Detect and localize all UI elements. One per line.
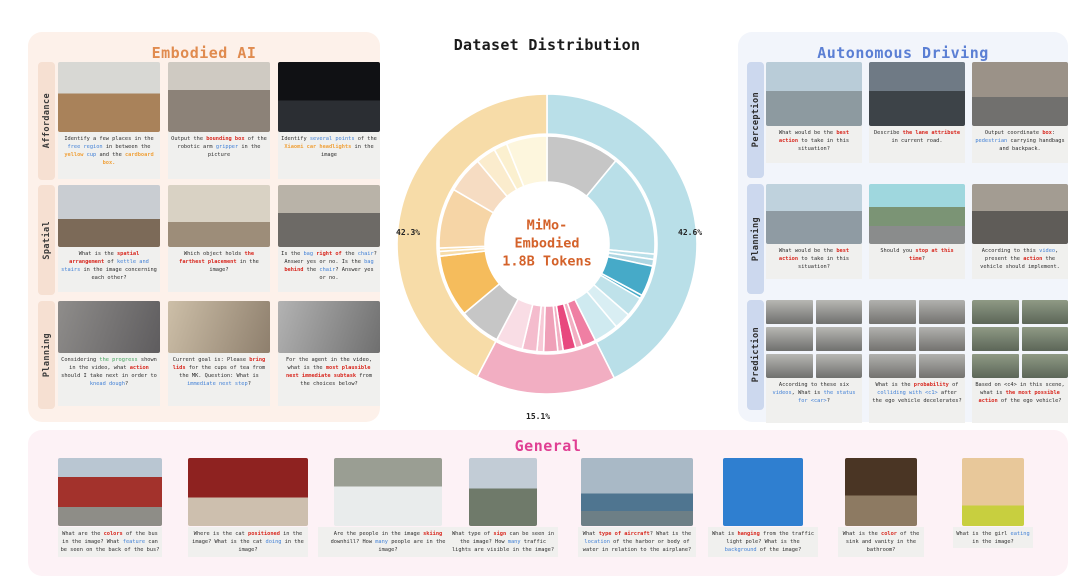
driving-perception-card-1-caption: What would be the best action to take in… xyxy=(766,126,862,163)
driving-planning-card-2-caption-run-0: Should you xyxy=(880,248,915,254)
embodied-affordance-card-3-caption-run-2: of the xyxy=(355,136,377,142)
embodied-spatial-card-3-caption-run-7: bag xyxy=(364,259,374,265)
frame-cell xyxy=(816,354,863,378)
thumbnail-wrap xyxy=(953,458,1033,526)
embodied-affordance-card-3-caption: Identify several points of the Xiaomi ca… xyxy=(278,132,380,179)
donut-center-hole xyxy=(485,182,609,306)
frame-cell xyxy=(919,327,966,351)
general-card-4[interactable]: What type of sign can be seen in the ima… xyxy=(448,458,558,557)
embodied-affordance-card-1-caption-run-2: in between the xyxy=(103,144,151,150)
driving-prediction-card-2-caption-run-2: of xyxy=(949,382,959,388)
general-panel: General What are the colors of the bus i… xyxy=(28,430,1068,576)
general-card-2[interactable]: Where is the cat positioned in the image… xyxy=(188,458,308,557)
general-card-1-caption: What are the colors of the bus in the im… xyxy=(58,527,162,557)
embodied-spatial-card-3-caption-run-1: bag xyxy=(303,251,313,257)
driving-perception-card-1-caption-run-0: What would be the xyxy=(779,130,836,136)
row-label-text: Planning xyxy=(751,217,761,261)
driving-perception-card-2-caption-run-0: Describe xyxy=(874,130,903,136)
driving-perception-card-3-caption-run-2: : xyxy=(1052,130,1055,136)
embodied-planning-card-2-caption: Current goal is: Please bring lids for t… xyxy=(168,353,270,406)
general-card-6[interactable]: What is hanging from the traffic light p… xyxy=(708,458,818,557)
row-label-text: Perception xyxy=(751,92,761,147)
frame-cell xyxy=(919,354,966,378)
frame-cell xyxy=(766,300,813,324)
pct-label-driving: 42.6% xyxy=(678,228,702,237)
driving-planning-card-3-caption-run-0: According to this xyxy=(982,248,1039,254)
frame-cell xyxy=(766,327,813,351)
embodied-spatial-card-3-caption-run-9: behind xyxy=(284,267,303,273)
six-frame-grid-1-thumbnail[interactable] xyxy=(766,300,862,378)
frame-cell xyxy=(972,300,1019,324)
driving-planning-card-2-caption-run-1: stop at this time xyxy=(909,248,954,262)
row-label-text: Affordance xyxy=(42,93,52,148)
driving-prediction-card-2-caption-run-1: probability xyxy=(914,382,949,388)
general-card-3-caption-run-0: Are the people in the image xyxy=(334,531,423,537)
embodied-spatial-card-1[interactable]: What is the spatial arrangement of kettl… xyxy=(58,185,160,292)
general-card-4-caption-run-3: many xyxy=(508,539,521,545)
driving-perception-card-3-caption-run-3: pedestrian xyxy=(975,138,1007,144)
general-card-6-caption-run-0: What is xyxy=(712,531,738,537)
general-card-5-caption-run-3: location xyxy=(584,539,610,545)
general-card-4-caption-run-1: sign xyxy=(493,531,506,537)
bathroom-vanity-thumbnail[interactable] xyxy=(845,458,917,526)
driving-prediction-card-1-caption-run-1: videos xyxy=(773,390,792,396)
driving-planning-card-3-caption-run-3: action xyxy=(1023,256,1042,262)
general-card-2-caption-run-0: Where is the cat xyxy=(194,531,248,537)
embodied-affordance-card-1[interactable]: Identify a few places in the free region… xyxy=(58,62,160,179)
embodied-ai-panel: Embodied AI AffordanceIdentify a few pla… xyxy=(28,32,380,422)
driving-planning-card-3-caption: According to this video, present the act… xyxy=(972,244,1068,279)
general-card-5-caption-run-0: What xyxy=(583,531,599,537)
thumbnail-wrap xyxy=(838,458,924,526)
general-card-2-caption-run-1: positioned xyxy=(248,531,280,537)
embodied-affordance-card-3[interactable]: Identify several points of the Xiaomi ca… xyxy=(278,62,380,179)
driving-perception-card-2-caption-run-1: the lane attribute xyxy=(903,130,960,136)
general-card-1-caption-run-1: colors xyxy=(104,531,123,537)
embodied-planning-card-1-caption: Considering the progress shown in the vi… xyxy=(58,353,160,406)
embodied-planning-card-2-caption-run-0: Current goal is: Please xyxy=(173,357,250,363)
embodied-spatial-card-3-caption-run-0: Is the xyxy=(281,251,303,257)
general-card-7[interactable]: What is the color of the sink and vanity… xyxy=(838,458,924,557)
embodied-planning-card-2-caption-run-3: immediate next step xyxy=(187,381,248,387)
driving-perception-card-2[interactable]: Describe the lane attribute in current r… xyxy=(869,62,965,163)
driving-perception-card-3-caption-run-4: carrying handbags and backpack. xyxy=(999,138,1064,152)
driving-planning-card-2[interactable]: Should you stop at this time? xyxy=(869,184,965,279)
driving-planning-card-1[interactable]: What would be the best action to take in… xyxy=(766,184,862,279)
embodied-affordance-card-2-caption-run-3: gripper xyxy=(216,144,238,150)
video-frames-kitchen-thumbnail[interactable] xyxy=(168,301,270,353)
robot-gripper-stove-thumbnail[interactable] xyxy=(168,62,270,132)
embodied-affordance-card-2[interactable]: Output the bounding box of the robotic a… xyxy=(168,62,270,179)
embodied-spatial-card-1-caption-run-4: in the image concerning each other? xyxy=(80,267,157,281)
embodied-spatial-card-3-caption: Is the bag right of the chair? Answer ye… xyxy=(278,247,380,292)
general-card-5[interactable]: What type of aircraft? What is the locat… xyxy=(578,458,696,557)
embodied-spatial-card-3-caption-run-10: the xyxy=(303,267,319,273)
embodied-planning-card-3-caption: For the agent in the video, what is the … xyxy=(278,353,380,406)
driving-perception-card-3[interactable]: Output coordinate box: pedestrian carryi… xyxy=(972,62,1068,163)
frame-cell xyxy=(869,300,916,324)
general-card-8-caption-run-2: in the image? xyxy=(972,539,1013,545)
embodied-affordance-card-2-caption: Output the bounding box of the robotic a… xyxy=(168,132,270,179)
thumbnail-wrap xyxy=(708,458,818,526)
kitchen-stairs-room-thumbnail[interactable] xyxy=(58,185,160,247)
driving-prediction-card-2-caption-run-0: What is the xyxy=(876,382,914,388)
thumbnail-wrap xyxy=(318,458,458,526)
autonomous-driving-panel: Autonomous Driving PerceptionWhat would … xyxy=(738,32,1068,422)
embodied-affordance-card-1-caption-run-0: Identify a few places in the xyxy=(64,136,153,142)
embodied-planning-card-1-caption-run-3: action xyxy=(130,365,149,371)
general-card-7-caption-run-0: What is the xyxy=(843,531,881,537)
red-curtain-couch-thumbnail[interactable] xyxy=(188,458,308,526)
driving-perception-card-1-caption-run-2: to take in this situation? xyxy=(798,138,849,152)
driving-prediction-card-1-caption-run-0: According to these six xyxy=(779,382,849,388)
embodied-planning-card-3[interactable]: For the agent in the video, what is the … xyxy=(278,301,380,406)
street-pedestrian-photo-thumbnail[interactable] xyxy=(972,62,1068,126)
embodied-spatial-card-3-caption-run-11: chair xyxy=(319,267,335,273)
general-card-5-caption-run-2: ? What is the xyxy=(650,531,691,537)
row-label-text: Spatial xyxy=(42,221,52,260)
video-frames-dough-thumbnail[interactable] xyxy=(58,301,160,353)
driving-video-frames-suburb-thumbnail[interactable] xyxy=(869,184,965,244)
embodied-planning-card-1-caption-run-0: Considering xyxy=(61,357,99,363)
general-card-3-caption-run-2: downhill? How xyxy=(331,539,376,545)
general-card-6-caption-run-3: background xyxy=(725,547,757,553)
bedroom-desk-window-thumbnail[interactable] xyxy=(168,185,270,247)
pct-label-embodied: 42.3% xyxy=(396,228,420,237)
blue-car-studio-thumbnail[interactable] xyxy=(278,62,380,132)
general-card-3-caption-run-1: skiing xyxy=(423,531,442,537)
row-label-text: Prediction xyxy=(751,327,761,382)
embodied-spatial-card-3-caption-run-5: chair xyxy=(358,251,374,257)
embodied-planning-card-1-caption-run-1: the progress xyxy=(99,357,137,363)
general-card-7-caption-run-1: color xyxy=(881,531,897,537)
red-bus-street-thumbnail[interactable] xyxy=(58,458,162,526)
driving-prediction-card-2-caption-run-3: colliding with <c1> xyxy=(877,390,938,396)
general-card-7-caption: What is the color of the sink and vanity… xyxy=(838,527,924,557)
driving-prediction-card-1-caption-run-2: , What is xyxy=(792,390,824,396)
driving-perception-card-2-caption: Describe the lane attribute in current r… xyxy=(869,126,965,163)
driving-planning-card-3[interactable]: According to this video, present the act… xyxy=(972,184,1068,279)
driving-planning-card-3-caption-run-1: video xyxy=(1039,248,1055,254)
general-card-8[interactable]: What is the girl eating in the image? xyxy=(953,458,1033,548)
general-card-5-caption: What type of aircraft? What is the locat… xyxy=(578,527,696,557)
embodied-ai-title: Embodied AI xyxy=(28,44,380,62)
driving-perception-card-3-caption: Output coordinate box: pedestrian carryi… xyxy=(972,126,1068,163)
frame-cell xyxy=(1022,300,1069,324)
embodied-affordance-card-2-caption-run-0: Output the xyxy=(171,136,206,142)
general-card-2-caption: Where is the cat positioned in the image… xyxy=(188,527,308,557)
dataset-distribution-chart: Dataset Distribution MiMo- Embodied 1.8B… xyxy=(386,32,708,424)
driving-row-label-perception: Perception xyxy=(747,62,764,178)
driving-prediction-card-3-caption-run-2: of the ego vehicle? xyxy=(998,398,1062,404)
driving-video-frames-road-thumbnail[interactable] xyxy=(766,184,862,244)
general-card-3-caption: Are the people in the image skiing downh… xyxy=(318,527,458,557)
driving-prediction-card-1-caption: According to these six videos, What is t… xyxy=(766,378,862,423)
driving-prediction-card-2[interactable]: What is the probability of colliding wit… xyxy=(869,300,965,423)
general-card-8-caption-run-1: eating xyxy=(1011,531,1030,537)
embodied-planning-card-2-caption-run-2: for the cups of tea from the MK. Questio… xyxy=(179,365,265,379)
general-title: General xyxy=(28,437,1068,455)
embodied-spatial-card-2-caption-run-0: Which object holds xyxy=(184,251,245,257)
embodied-affordance-card-1-caption-run-1: free region xyxy=(68,144,103,150)
embodied-affordance-card-3-caption-run-1: several points xyxy=(310,136,355,142)
embodied-row-label-planning: Planning xyxy=(38,301,55,409)
thumbnail-wrap xyxy=(188,458,308,526)
frame-cell xyxy=(816,327,863,351)
embodied-planning-card-1-caption-run-6: ? xyxy=(125,381,128,387)
general-card-4-caption: What type of sign can be seen in the ima… xyxy=(448,527,558,557)
thumbnail-wrap xyxy=(58,458,162,526)
driving-video-frames-lane-thumbnail[interactable] xyxy=(869,62,965,126)
donut-svg xyxy=(397,62,697,402)
driving-row-label-prediction: Prediction xyxy=(747,300,764,410)
frame-cell xyxy=(766,354,813,378)
girl-eating-thumbnail[interactable] xyxy=(962,458,1024,526)
embodied-affordance-card-3-caption-run-0: Identify xyxy=(281,136,310,142)
frame-cell xyxy=(869,354,916,378)
skiers-snow-thumbnail[interactable] xyxy=(334,458,442,526)
chart-title: Dataset Distribution xyxy=(386,36,708,54)
embodied-affordance-card-2-caption-run-1: bounding box xyxy=(206,136,244,142)
row-label-text: Planning xyxy=(42,333,52,377)
embodied-affordance-card-1-caption: Identify a few places in the free region… xyxy=(58,132,160,179)
embodied-spatial-card-2[interactable]: Which object holds the farthest placemen… xyxy=(168,185,270,292)
embodied-spatial-card-3-caption-run-4: the xyxy=(342,251,358,257)
frame-cell xyxy=(972,327,1019,351)
general-card-3-caption-run-4: people are in the image? xyxy=(378,539,445,553)
frame-cell xyxy=(816,300,863,324)
general-card-1-caption-run-0: What are the xyxy=(62,531,103,537)
general-card-3-caption-run-3: many xyxy=(375,539,388,545)
driving-perception-card-3-caption-run-1: box xyxy=(1042,130,1052,136)
frame-cell xyxy=(869,327,916,351)
six-frame-grid-3-thumbnail[interactable] xyxy=(972,300,1068,378)
driving-prediction-card-3[interactable]: Based on <c4> in this scene, what is the… xyxy=(972,300,1068,423)
six-frame-grid-2-thumbnail[interactable] xyxy=(869,300,965,378)
driving-perception-card-1[interactable]: What would be the best action to take in… xyxy=(766,62,862,163)
embodied-affordance-card-1-caption-run-3: yellow xyxy=(64,152,83,158)
general-card-2-caption-run-3: doing xyxy=(266,539,282,545)
general-card-6-caption-run-1: hanging xyxy=(737,531,759,537)
general-card-8-caption-run-0: What is the girl xyxy=(956,531,1010,537)
airplane-harbor-thumbnail[interactable] xyxy=(581,458,693,526)
office-chair-bag-thumbnail[interactable] xyxy=(278,185,380,247)
embodied-spatial-card-1-caption-run-2: of xyxy=(104,259,117,265)
embodied-affordance-card-1-caption-run-6: and the xyxy=(96,152,125,158)
driving-planning-card-2-caption-run-2: ? xyxy=(922,256,925,262)
embodied-planning-card-1-caption-run-5: knead dough xyxy=(90,381,125,387)
robot-arm-kitchen-table-thumbnail[interactable] xyxy=(58,62,160,132)
embodied-planning-card-2[interactable]: Current goal is: Please bring lids for t… xyxy=(168,301,270,406)
driving-perception-card-3-caption-run-0: Output coordinate xyxy=(985,130,1042,136)
general-card-1-caption-run-3: feature xyxy=(123,539,145,545)
general-card-3[interactable]: Are the people in the image skiing downh… xyxy=(318,458,458,557)
embodied-spatial-card-1-caption: What is the spatial arrangement of kettl… xyxy=(58,247,160,292)
driving-planning-card-1-caption-run-0: What would be the xyxy=(779,248,836,254)
embodied-affordance-card-3-caption-run-3: Xiaomi car headlights xyxy=(284,144,351,150)
thumbnail-wrap xyxy=(578,458,696,526)
driving-row-label-planning: Planning xyxy=(747,184,764,294)
embodied-spatial-card-3[interactable]: Is the bag right of the chair? Answer ye… xyxy=(278,185,380,292)
traffic-lights-city-thumbnail[interactable] xyxy=(469,458,537,526)
general-card-1[interactable]: What are the colors of the bus in the im… xyxy=(58,458,162,557)
driving-prediction-card-1[interactable]: According to these six videos, What is t… xyxy=(766,300,862,423)
frame-cell xyxy=(1022,354,1069,378)
general-card-6-caption: What is hanging from the traffic light p… xyxy=(708,527,818,557)
video-frames-sim-thumbnail[interactable] xyxy=(278,301,380,353)
thumbnail-wrap xyxy=(448,458,558,526)
embodied-planning-card-1-caption-run-4: should I take next in order to xyxy=(61,373,157,379)
driving-planning-card-2-caption: Should you stop at this time? xyxy=(869,244,965,279)
driving-video-frames-night-thumbnail[interactable] xyxy=(972,184,1068,244)
driving-planning-card-1-caption: What would be the best action to take in… xyxy=(766,244,862,279)
autonomous-driving-title: Autonomous Driving xyxy=(738,44,1068,62)
general-card-4-caption-run-0: What type of xyxy=(452,531,493,537)
embodied-spatial-card-2-caption: Which object holds the farthest placemen… xyxy=(168,247,270,292)
frame-cell xyxy=(972,354,1019,378)
embodied-planning-card-1[interactable]: Considering the progress shown in the vi… xyxy=(58,301,160,406)
driving-video-frames-street-thumbnail[interactable] xyxy=(766,62,862,126)
embodied-row-label-affordance: Affordance xyxy=(38,62,55,180)
poster-root: Embodied AI AffordanceIdentify a few pla… xyxy=(0,0,1080,582)
driving-prediction-card-3-caption: Based on <c4> in this scene, what is the… xyxy=(972,378,1068,423)
general-card-8-caption: What is the girl eating in the image? xyxy=(953,527,1033,548)
frame-cell xyxy=(919,300,966,324)
embodied-spatial-card-1-caption-run-0: What is the xyxy=(79,251,117,257)
embodied-affordance-card-1-caption-run-5: cup xyxy=(87,152,97,158)
driving-perception-card-2-caption-run-2: in current road. xyxy=(891,138,942,144)
driving-prediction-card-1-caption-run-4: ? xyxy=(827,398,830,404)
embodied-planning-card-2-caption-run-4: ? xyxy=(248,381,251,387)
general-card-6-caption-run-4: of the image? xyxy=(757,547,802,553)
street-sign-sky-thumbnail[interactable] xyxy=(723,458,803,526)
embodied-row-label-spatial: Spatial xyxy=(38,185,55,295)
pct-label-general: 15.1% xyxy=(526,412,550,421)
driving-planning-card-1-caption-run-2: to take in this situation? xyxy=(798,256,849,270)
general-card-5-caption-run-1: type of aircraft xyxy=(599,531,650,537)
frame-cell xyxy=(1022,327,1069,351)
driving-prediction-card-2-caption: What is the probability of colliding wit… xyxy=(869,378,965,423)
embodied-spatial-card-3-caption-run-3: right of xyxy=(316,251,342,257)
